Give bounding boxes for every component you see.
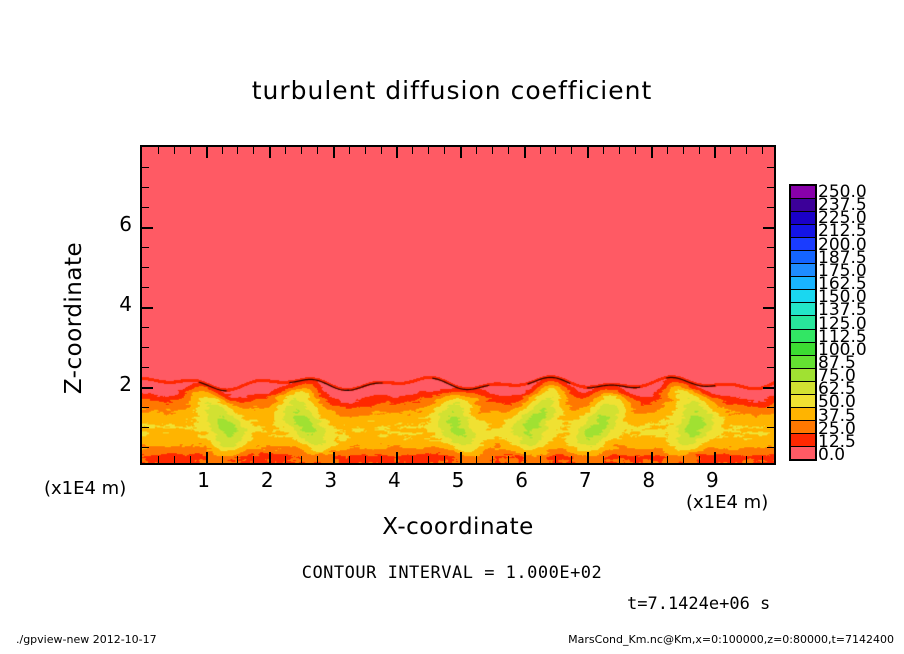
axis-tick	[555, 456, 556, 463]
figure-root: turbulent diffusion coefficient 12345678…	[0, 0, 904, 654]
colorbar-band	[791, 343, 815, 356]
axis-tick	[174, 147, 175, 154]
axis-tick	[222, 147, 223, 154]
x-tick-label: 8	[629, 468, 669, 492]
axis-tick	[285, 147, 286, 154]
axis-tick	[767, 427, 774, 428]
axis-tick	[142, 347, 149, 348]
timestamp-caption: t=7.1424e+06 s	[627, 594, 770, 614]
colorbar-band	[791, 264, 815, 277]
contour-interval-caption: CONTOUR INTERVAL = 1.000E+02	[0, 563, 904, 583]
colorbar-band	[791, 303, 815, 316]
x-tick-label: 2	[247, 468, 287, 492]
axis-tick	[767, 187, 774, 188]
axis-tick	[444, 456, 445, 463]
colorbar-band	[791, 356, 815, 369]
axis-tick	[317, 147, 318, 154]
axis-tick	[767, 207, 774, 208]
colorbar-band	[791, 434, 815, 447]
axis-tick	[730, 456, 731, 463]
axis-tick	[651, 452, 653, 463]
axis-tick	[683, 456, 684, 463]
axis-tick	[365, 147, 366, 154]
x-tick-label: 1	[184, 468, 224, 492]
x-tick-label: 3	[311, 468, 351, 492]
axis-tick	[767, 447, 774, 448]
axis-tick	[746, 456, 747, 463]
axis-tick	[587, 147, 589, 158]
axis-tick	[603, 456, 604, 463]
axis-tick	[767, 367, 774, 368]
axis-tick	[763, 387, 774, 389]
axis-tick	[253, 456, 254, 463]
axis-tick	[714, 452, 716, 463]
colorbar-band	[791, 369, 815, 382]
x-axis-unit-label: (x1E4 m)	[686, 492, 768, 513]
axis-tick	[571, 456, 572, 463]
axis-tick	[253, 147, 254, 154]
axis-tick	[540, 147, 541, 154]
axis-tick	[444, 147, 445, 154]
axis-tick	[174, 456, 175, 463]
y-axis-title: Z-coordinate	[61, 218, 87, 418]
axis-tick	[206, 452, 208, 463]
axis-tick	[762, 147, 763, 154]
axis-tick	[667, 456, 668, 463]
axis-tick	[333, 452, 335, 463]
axis-tick	[767, 287, 774, 288]
colorbar-band	[791, 199, 815, 212]
axis-tick	[476, 456, 477, 463]
axis-tick	[746, 147, 747, 154]
axis-tick	[714, 147, 716, 158]
colorbar-band	[791, 277, 815, 290]
axis-tick	[285, 456, 286, 463]
axis-tick	[396, 452, 398, 463]
page-title: turbulent diffusion coefficient	[0, 76, 904, 105]
axis-tick	[349, 456, 350, 463]
axis-tick	[381, 456, 382, 463]
axis-tick	[142, 407, 149, 408]
axis-tick	[508, 147, 509, 154]
axis-tick	[142, 427, 149, 428]
axis-tick	[142, 387, 153, 389]
axis-tick	[571, 147, 572, 154]
axis-tick	[349, 147, 350, 154]
x-tick-label: 6	[502, 468, 542, 492]
axis-tick	[524, 452, 526, 463]
axis-tick	[142, 287, 149, 288]
axis-tick	[222, 456, 223, 463]
axis-tick	[699, 456, 700, 463]
colorbar-band	[791, 251, 815, 264]
axis-tick	[667, 147, 668, 154]
axis-tick	[476, 147, 477, 154]
axis-tick	[142, 367, 149, 368]
axis-tick	[237, 147, 238, 154]
colorbar-band	[791, 212, 815, 225]
axis-tick	[412, 456, 413, 463]
axis-tick	[269, 147, 271, 158]
axis-tick	[317, 456, 318, 463]
colorbar-band	[791, 408, 815, 421]
colorbar-band	[791, 316, 815, 329]
axis-tick	[767, 347, 774, 348]
axis-tick	[492, 147, 493, 154]
axis-tick	[428, 456, 429, 463]
diffusion-field-image	[142, 147, 774, 463]
colorbar-band	[791, 225, 815, 238]
footer-command-label: ./gpview-new 2012-10-17	[16, 633, 157, 646]
axis-tick	[763, 307, 774, 309]
axis-tick	[396, 147, 398, 158]
axis-tick	[206, 147, 208, 158]
axis-tick	[555, 147, 556, 154]
axis-tick	[767, 267, 774, 268]
x-axis-title: X-coordinate	[140, 514, 776, 540]
x-tick-label: 5	[438, 468, 478, 492]
axis-tick	[158, 456, 159, 463]
axis-tick	[381, 147, 382, 154]
colorbar-tick-labels: 250.0237.5225.0212.5200.0187.5175.0162.5…	[818, 184, 888, 461]
axis-tick	[683, 147, 684, 154]
colorbar-band	[791, 382, 815, 395]
y-tick-label: 4	[106, 292, 132, 316]
axis-tick	[190, 147, 191, 154]
axis-tick	[762, 456, 763, 463]
axis-tick	[365, 456, 366, 463]
axis-tick	[333, 147, 335, 158]
footer-dataset-label: MarsCond_Km.nc@Km,x=0:100000,z=0:80000,t…	[568, 633, 894, 646]
axis-tick	[767, 167, 774, 168]
y-tick-label: 6	[106, 212, 132, 236]
axis-tick	[767, 247, 774, 248]
colorbar-band	[791, 290, 815, 303]
colorbar	[789, 184, 817, 461]
axis-tick	[142, 327, 149, 328]
x-tick-label: 7	[565, 468, 605, 492]
colorbar-band	[791, 238, 815, 251]
axis-tick	[651, 147, 653, 158]
axis-tick	[699, 147, 700, 154]
axis-tick	[587, 452, 589, 463]
axis-tick	[301, 147, 302, 154]
contour-plot-area	[140, 145, 776, 465]
y-tick-label: 2	[106, 372, 132, 396]
axis-tick	[460, 452, 462, 463]
axis-tick	[524, 147, 526, 158]
colorbar-band	[791, 330, 815, 343]
axis-tick	[492, 456, 493, 463]
y-axis-unit-label: (x1E4 m)	[44, 478, 126, 499]
axis-tick	[730, 147, 731, 154]
axis-tick	[142, 307, 153, 309]
axis-tick	[540, 456, 541, 463]
colorbar-band	[791, 421, 815, 434]
axis-tick	[301, 456, 302, 463]
axis-tick	[237, 456, 238, 463]
colorbar-band	[791, 447, 815, 459]
axis-tick	[508, 456, 509, 463]
x-tick-label: 4	[374, 468, 414, 492]
axis-tick	[190, 456, 191, 463]
axis-tick	[142, 207, 149, 208]
axis-tick	[767, 327, 774, 328]
axis-tick	[428, 147, 429, 154]
colorbar-tick-label: 0.0	[818, 447, 845, 464]
axis-tick	[619, 456, 620, 463]
axis-tick	[142, 247, 149, 248]
colorbar-band	[791, 395, 815, 408]
axis-tick	[158, 147, 159, 154]
axis-tick	[269, 452, 271, 463]
axis-tick	[635, 147, 636, 154]
x-tick-label: 9	[692, 468, 732, 492]
axis-tick	[763, 227, 774, 229]
axis-tick	[142, 187, 149, 188]
axis-tick	[460, 147, 462, 158]
axis-tick	[142, 227, 153, 229]
axis-tick	[142, 447, 149, 448]
axis-tick	[412, 147, 413, 154]
colorbar-band	[791, 186, 815, 199]
axis-tick	[603, 147, 604, 154]
axis-tick	[635, 456, 636, 463]
axis-tick	[142, 267, 149, 268]
axis-tick	[767, 407, 774, 408]
axis-tick	[619, 147, 620, 154]
axis-tick	[142, 167, 149, 168]
